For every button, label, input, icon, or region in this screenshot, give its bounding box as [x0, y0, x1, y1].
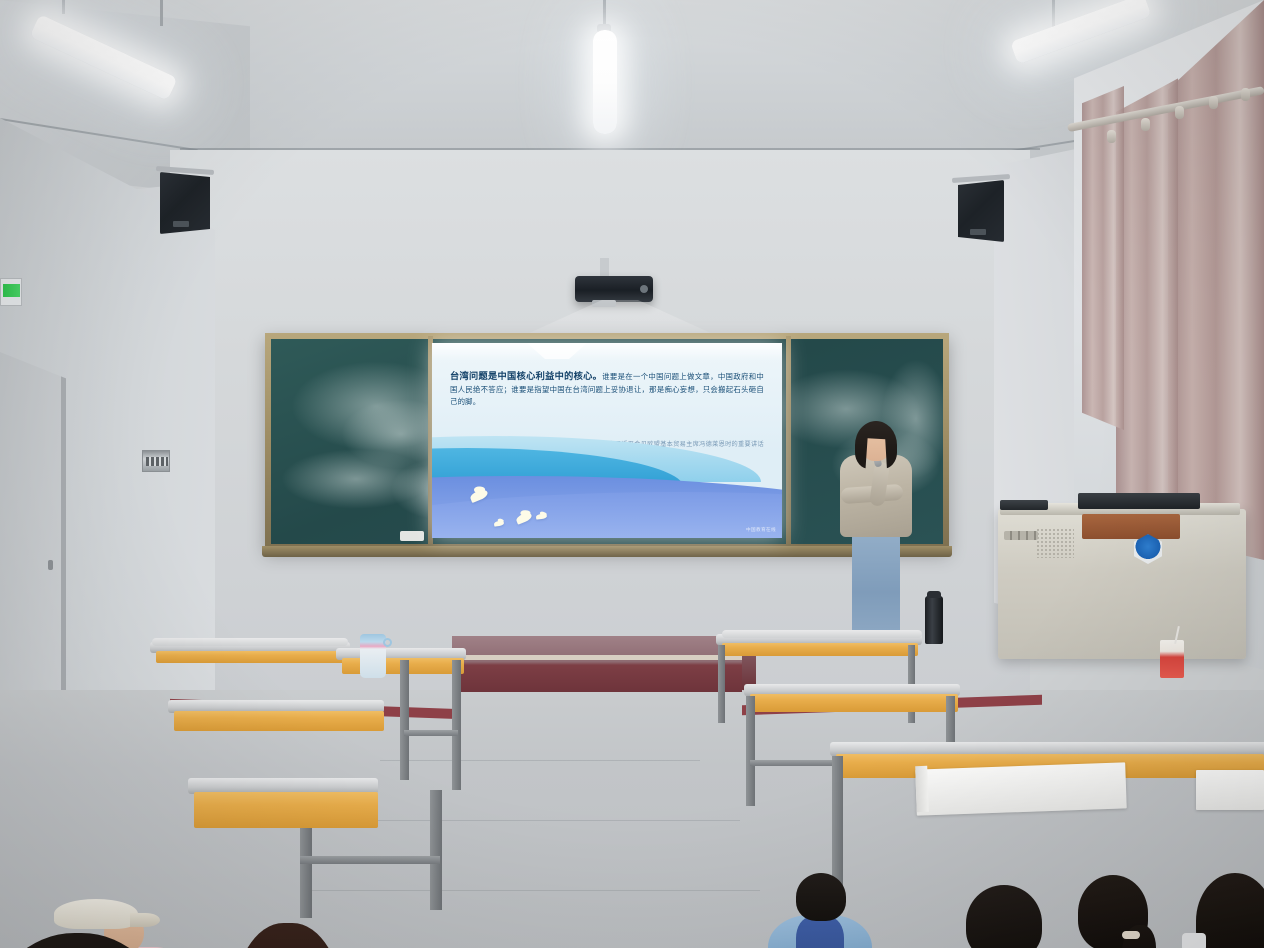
light-rod-left2 [160, 0, 163, 26]
lectern-control-buttons[interactable] [1004, 531, 1038, 540]
desk-leg [452, 660, 461, 790]
student-hair [796, 873, 846, 921]
slide-top-glow [432, 343, 782, 361]
desk-rail [404, 730, 458, 736]
open-notebook[interactable] [915, 762, 1126, 815]
floor-grout-3 [300, 890, 760, 891]
curtain-panel-a[interactable] [1168, 0, 1264, 560]
projection-screen: 台湾问题是中国核心利益中的核心。谁要是在一个中国问题上做文章，中国政府和中国人民… [432, 343, 782, 538]
desk-top-center-mid [750, 694, 958, 712]
platform-lip [452, 655, 742, 660]
curtain-ring-5 [1107, 130, 1116, 143]
student-inner-shirt [796, 917, 844, 948]
slide-watermark: 中国教育在线 [746, 527, 776, 533]
exit-sign-icon [0, 278, 22, 306]
curtain-ring-1 [1241, 88, 1250, 101]
board-divider-right [786, 336, 791, 547]
notebook-right-page [1196, 770, 1264, 810]
curtain-ring-2 [1209, 96, 1218, 109]
desk-top-left-front [194, 792, 378, 828]
desk-leg [746, 696, 755, 806]
white-cap [54, 899, 138, 929]
light-rod-center [603, 0, 606, 26]
lectern-speaker-grille [1036, 528, 1074, 558]
light-rod-left [62, 0, 65, 14]
desk-leg [718, 645, 725, 723]
wall-speaker-right [958, 180, 1004, 242]
curtain-ring-3 [1175, 106, 1184, 119]
desk-top-left-near [174, 711, 384, 731]
desk-leg [400, 660, 409, 780]
chalkboard-eraser[interactable] [400, 531, 424, 541]
presenter-jeans [852, 532, 900, 642]
lectern-wood-panel [1082, 514, 1180, 539]
notebook-spine [915, 766, 929, 812]
desk-top-left-far [156, 651, 348, 663]
juice-box[interactable] [1160, 640, 1184, 678]
face-mask-icon [1182, 933, 1206, 948]
cap-brim [130, 913, 160, 927]
lectern-monitor[interactable] [1078, 493, 1200, 509]
desk-top-center [722, 643, 918, 656]
floor-grout-1 [380, 760, 700, 761]
ceiling-projector [575, 276, 653, 302]
floor-grout-2 [340, 820, 740, 821]
wall-speaker-left [160, 172, 210, 234]
fluorescent-tube-center [593, 30, 617, 134]
desk-leg [430, 790, 442, 910]
curtain-ring-4 [1141, 118, 1150, 131]
raised-platform [452, 636, 742, 692]
door-handle-icon[interactable] [48, 560, 53, 570]
projector-arm [592, 300, 616, 307]
classroom-photo: 台湾问题是中国核心利益中的核心。谁要是在一个中国问题上做文章，中国政府和中国人民… [0, 0, 1264, 948]
seatback-center [722, 630, 922, 638]
desk-rail [300, 856, 440, 864]
thermos-black[interactable] [925, 596, 943, 644]
seatback-left [152, 638, 348, 646]
hair-tie-icon [1122, 931, 1140, 939]
slide-headline: 台湾问题是中国核心利益中的核心。 [450, 371, 602, 381]
chalk-ledge [262, 546, 952, 557]
electrical-panel [142, 450, 170, 472]
slide-body-text: 台湾问题是中国核心利益中的核心。谁要是在一个中国问题上做文章，中国政府和中国人民… [450, 369, 764, 408]
bottle-handle-icon [383, 638, 392, 647]
